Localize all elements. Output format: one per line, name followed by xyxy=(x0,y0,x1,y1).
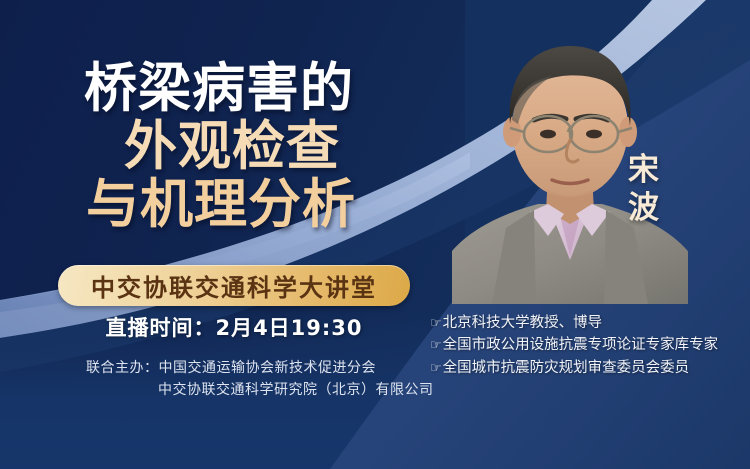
credential-text: 全国城市抗震防灾规划审查委员会委员 xyxy=(443,357,690,379)
pointing-hand-icon: ☞ xyxy=(430,359,442,379)
title-line-2: 外观检查 xyxy=(124,120,440,173)
credential-text: 北京科技大学教授、博导 xyxy=(443,312,603,334)
organizer-line-2: 中交协联交通科学研究院（北京）有限公司 xyxy=(158,379,434,401)
webinar-poster: 桥梁病害的 外观检查 与机理分析 中交协联交通科学大讲堂 直播时间：2月4日19… xyxy=(0,0,750,469)
pointing-hand-icon: ☞ xyxy=(430,336,442,356)
live-time-text: 直播时间：2月4日19:30 xyxy=(58,312,410,342)
speaker-name-char-2: 波 xyxy=(628,190,661,228)
title-line-1: 桥梁病害的 xyxy=(84,62,440,115)
credential-item: ☞ 全国市政公用设施抗震专项论证专家库专家 xyxy=(430,334,718,356)
series-banner: 中交协联交通科学大讲堂 xyxy=(58,265,410,306)
credential-item: ☞ 全国城市抗震防灾规划审查委员会委员 xyxy=(430,357,718,379)
speaker-credentials: ☞ 北京科技大学教授、博导 ☞ 全国市政公用设施抗震专项论证专家库专家 ☞ 全国… xyxy=(430,312,718,379)
pointing-hand-icon: ☞ xyxy=(430,314,442,334)
poster-title: 桥梁病害的 外观检查 与机理分析 xyxy=(0,62,440,231)
organizers-block: 联合主办：中国交通运输协会新技术促进分会 中交协联交通科学研究院（北京）有限公司 xyxy=(86,357,434,402)
organizer-line-1: 联合主办：中国交通运输协会新技术促进分会 xyxy=(86,357,434,379)
credential-item: ☞ 北京科技大学教授、博导 xyxy=(430,312,718,334)
title-line-3: 与机理分析 xyxy=(86,178,440,231)
speaker-name: 宋 波 xyxy=(628,152,661,228)
speaker-name-char-1: 宋 xyxy=(628,152,661,190)
credential-text: 全国市政公用设施抗震专项论证专家库专家 xyxy=(443,334,719,356)
series-banner-label: 中交协联交通科学大讲堂 xyxy=(91,268,377,303)
